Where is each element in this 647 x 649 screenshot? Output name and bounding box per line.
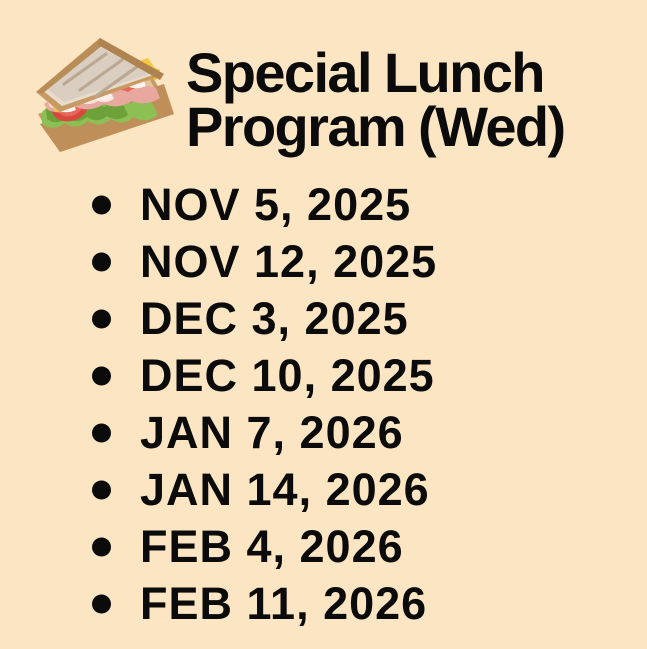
poster-header: Special Lunch Program (Wed)	[0, 0, 647, 172]
page-title: Special Lunch Program (Wed)	[186, 46, 647, 156]
date-label: DEC 3, 2025	[140, 296, 409, 341]
page-title-line-2: Program (Wed)	[186, 100, 647, 155]
date-label: FEB 4, 2026	[140, 524, 404, 569]
bullet-icon	[92, 309, 111, 328]
list-item: NOV 5, 2025	[0, 176, 647, 233]
date-label: FEB 11, 2026	[140, 581, 427, 626]
date-list: NOV 5, 2025 NOV 12, 2025 DEC 3, 2025 DEC…	[0, 176, 647, 632]
bullet-icon	[92, 252, 111, 271]
page-title-line-1: Special Lunch	[186, 46, 647, 101]
list-item: JAN 14, 2026	[0, 461, 647, 518]
sandwich-icon	[24, 28, 184, 168]
date-label: DEC 10, 2025	[140, 353, 435, 398]
bullet-icon	[92, 537, 111, 556]
date-label: JAN 7, 2026	[140, 410, 404, 455]
bullet-icon	[92, 480, 111, 499]
list-item: FEB 4, 2026	[0, 518, 647, 575]
bullet-icon	[92, 366, 111, 385]
date-label: NOV 5, 2025	[140, 182, 411, 227]
date-label: JAN 14, 2026	[140, 467, 430, 512]
list-item: FEB 11, 2026	[0, 575, 647, 632]
bullet-icon	[92, 594, 111, 613]
bullet-icon	[92, 195, 111, 214]
list-item: DEC 3, 2025	[0, 290, 647, 347]
list-item: DEC 10, 2025	[0, 347, 647, 404]
date-label: NOV 12, 2025	[140, 239, 437, 284]
list-item: JAN 7, 2026	[0, 404, 647, 461]
bullet-icon	[92, 423, 111, 442]
lunch-program-poster: Special Lunch Program (Wed) NOV 5, 2025 …	[0, 0, 647, 649]
list-item: NOV 12, 2025	[0, 233, 647, 290]
